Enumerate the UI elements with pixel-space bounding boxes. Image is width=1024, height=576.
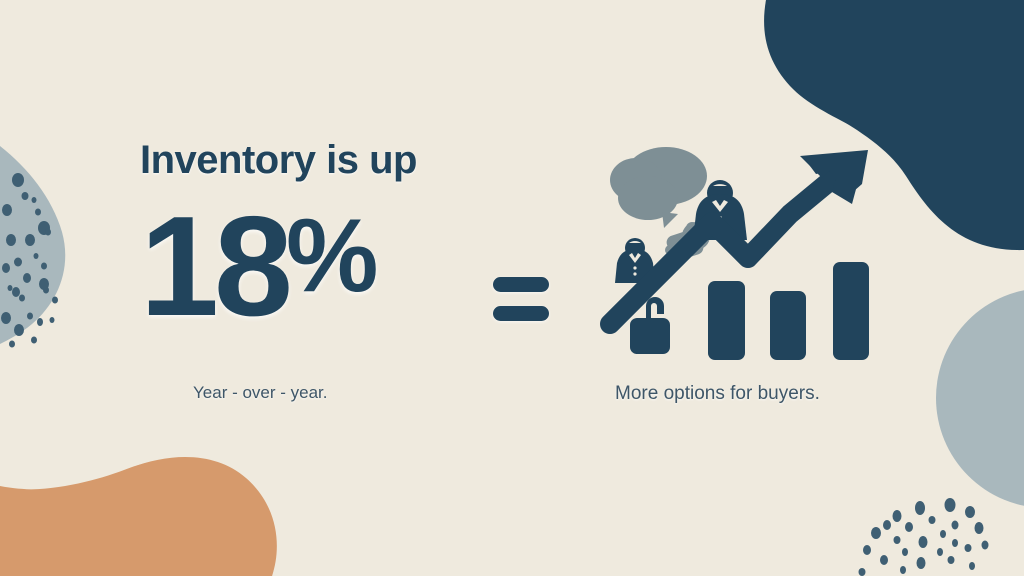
dot-cluster-left-icon xyxy=(1,173,58,348)
bar-1 xyxy=(708,281,745,360)
blob-left-edge-shape xyxy=(0,146,65,344)
bar-2 xyxy=(770,291,806,360)
stat-number: 18 xyxy=(140,202,288,333)
slide-canvas: Inventory is up 18 % Year - over - year. xyxy=(0,0,1024,576)
growth-chart-illustration xyxy=(600,140,900,370)
equals-bar-bottom xyxy=(493,306,549,321)
stat-figure: 18 % xyxy=(140,202,470,333)
page-title: Inventory is up xyxy=(140,140,470,180)
left-caption: Year - over - year. xyxy=(193,383,328,403)
blob-bottom-left-shape-b xyxy=(0,457,277,576)
stat-unit: % xyxy=(286,204,378,308)
blob-top-right-icon xyxy=(757,0,1024,100)
speech-bubble-icon xyxy=(610,147,707,228)
dot-cluster-bottom-right-icon xyxy=(859,498,989,576)
bar-3 xyxy=(833,262,869,360)
blob-right-edge-shape xyxy=(936,288,1024,508)
equals-bar-top xyxy=(493,277,549,292)
blob-bottom-left-shape xyxy=(0,458,276,576)
equals-sign xyxy=(493,277,549,321)
right-caption: More options for buyers. xyxy=(615,383,820,405)
left-text-column: Inventory is up 18 % xyxy=(140,140,470,333)
